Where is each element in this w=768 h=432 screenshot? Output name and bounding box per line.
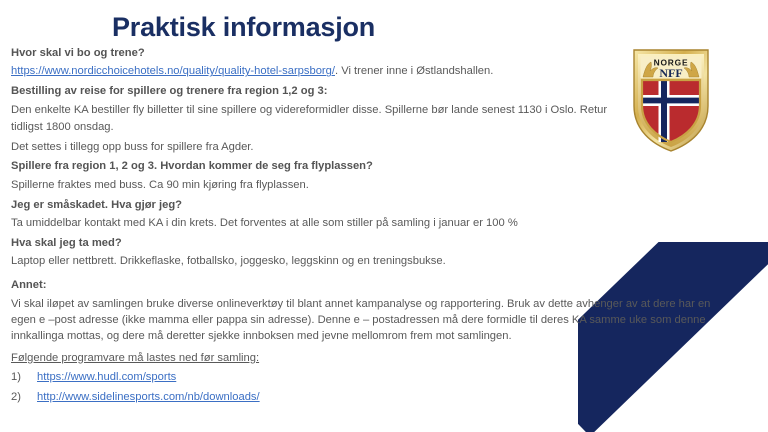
heading-what-to-bring: Hva skal jeg ta med? xyxy=(11,236,759,252)
crest-icon: NORGE NFF xyxy=(628,44,714,156)
paragraph-airport-transfer: Spillerne fraktes med buss. Ca 90 min kj… xyxy=(11,178,759,194)
heading-airport-transfer: Spillere fra region 1, 2 og 3. Hvordan k… xyxy=(11,159,759,175)
nff-norge-crest-logo: NORGE NFF xyxy=(628,44,714,156)
list-item-number: 1) xyxy=(11,370,37,386)
heading-software: Følgende programvare må lastes ned før s… xyxy=(11,351,759,367)
paragraph-other: Vi skal iløpet av samlingen bruke divers… xyxy=(11,297,723,345)
list-item: 2) http://www.sidelinesports.com/nb/down… xyxy=(11,390,759,406)
hotel-link[interactable]: https://www.nordicchoicehotels.no/qualit… xyxy=(11,65,335,77)
list-item-number: 2) xyxy=(11,390,37,406)
heading-minor-injury: Jeg er småskadet. Hva gjør jeg? xyxy=(11,198,759,214)
svg-text:NFF: NFF xyxy=(659,66,682,80)
heading-other: Annet: xyxy=(11,278,759,294)
hotel-link-trailing-text: . Vi trener inne i Østlandshallen. xyxy=(335,65,493,77)
hudl-link[interactable]: https://www.hudl.com/sports xyxy=(37,370,176,386)
software-download-list: 1) https://www.hudl.com/sports 2) http:/… xyxy=(11,370,759,406)
page-title: Praktisk informasjon xyxy=(112,12,375,43)
paragraph-what-to-bring: Laptop eller nettbrett. Drikkeflaske, fo… xyxy=(11,254,759,270)
sidelinesports-link[interactable]: http://www.sidelinesports.com/nb/downloa… xyxy=(37,390,260,406)
paragraph-minor-injury: Ta umiddelbar kontakt med KA i din krets… xyxy=(11,216,759,232)
heading-software-label: Følgende programvare må lastes ned før s… xyxy=(11,352,259,364)
list-item: 1) https://www.hudl.com/sports xyxy=(11,370,759,386)
